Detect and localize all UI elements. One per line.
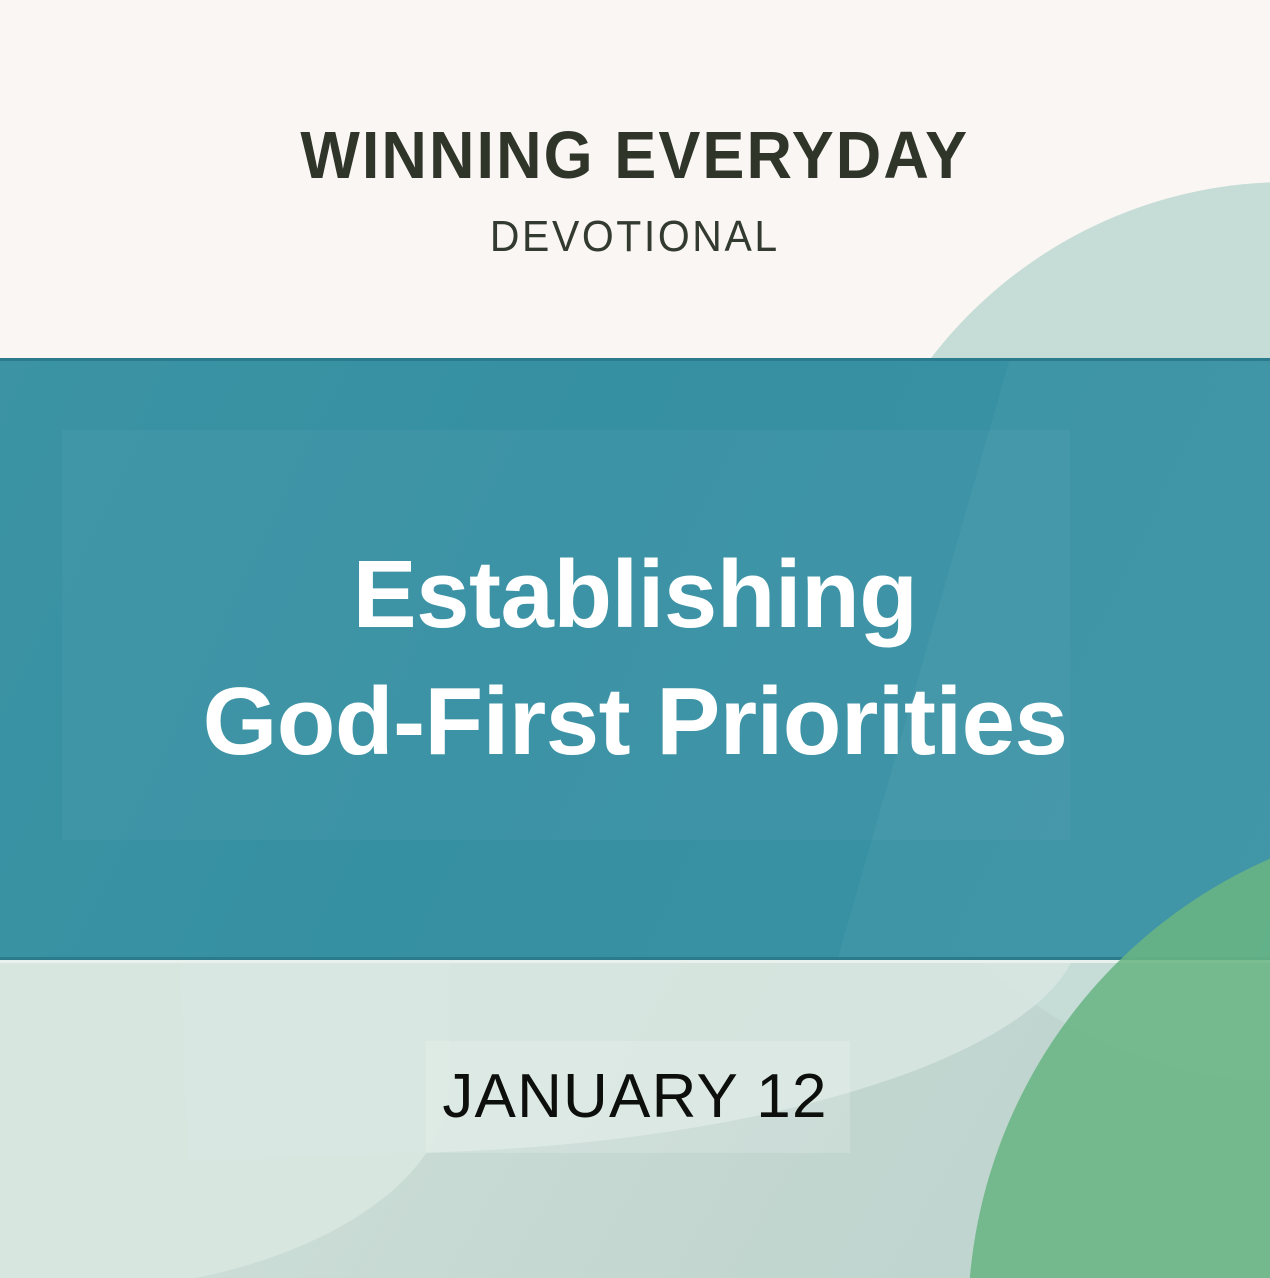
teal-band-bottom-hairline [0, 960, 1270, 963]
devotional-title-card: WINNING EVERYDAY DEVOTIONAL Establishing… [0, 0, 1270, 1278]
headline-block: Establishing God-First Priorities [0, 358, 1270, 960]
headline-line-2: God-First Priorities [203, 659, 1068, 786]
date-block: JANUARY 12 [0, 1041, 1270, 1153]
header-text-block: WINNING EVERYDAY DEVOTIONAL [0, 0, 1270, 358]
brand-title: WINNING EVERYDAY [301, 122, 970, 189]
devotional-date: JANUARY 12 [442, 1066, 827, 1128]
brand-subtitle: DEVOTIONAL [490, 215, 780, 259]
headline-line-1: Establishing [353, 532, 918, 659]
